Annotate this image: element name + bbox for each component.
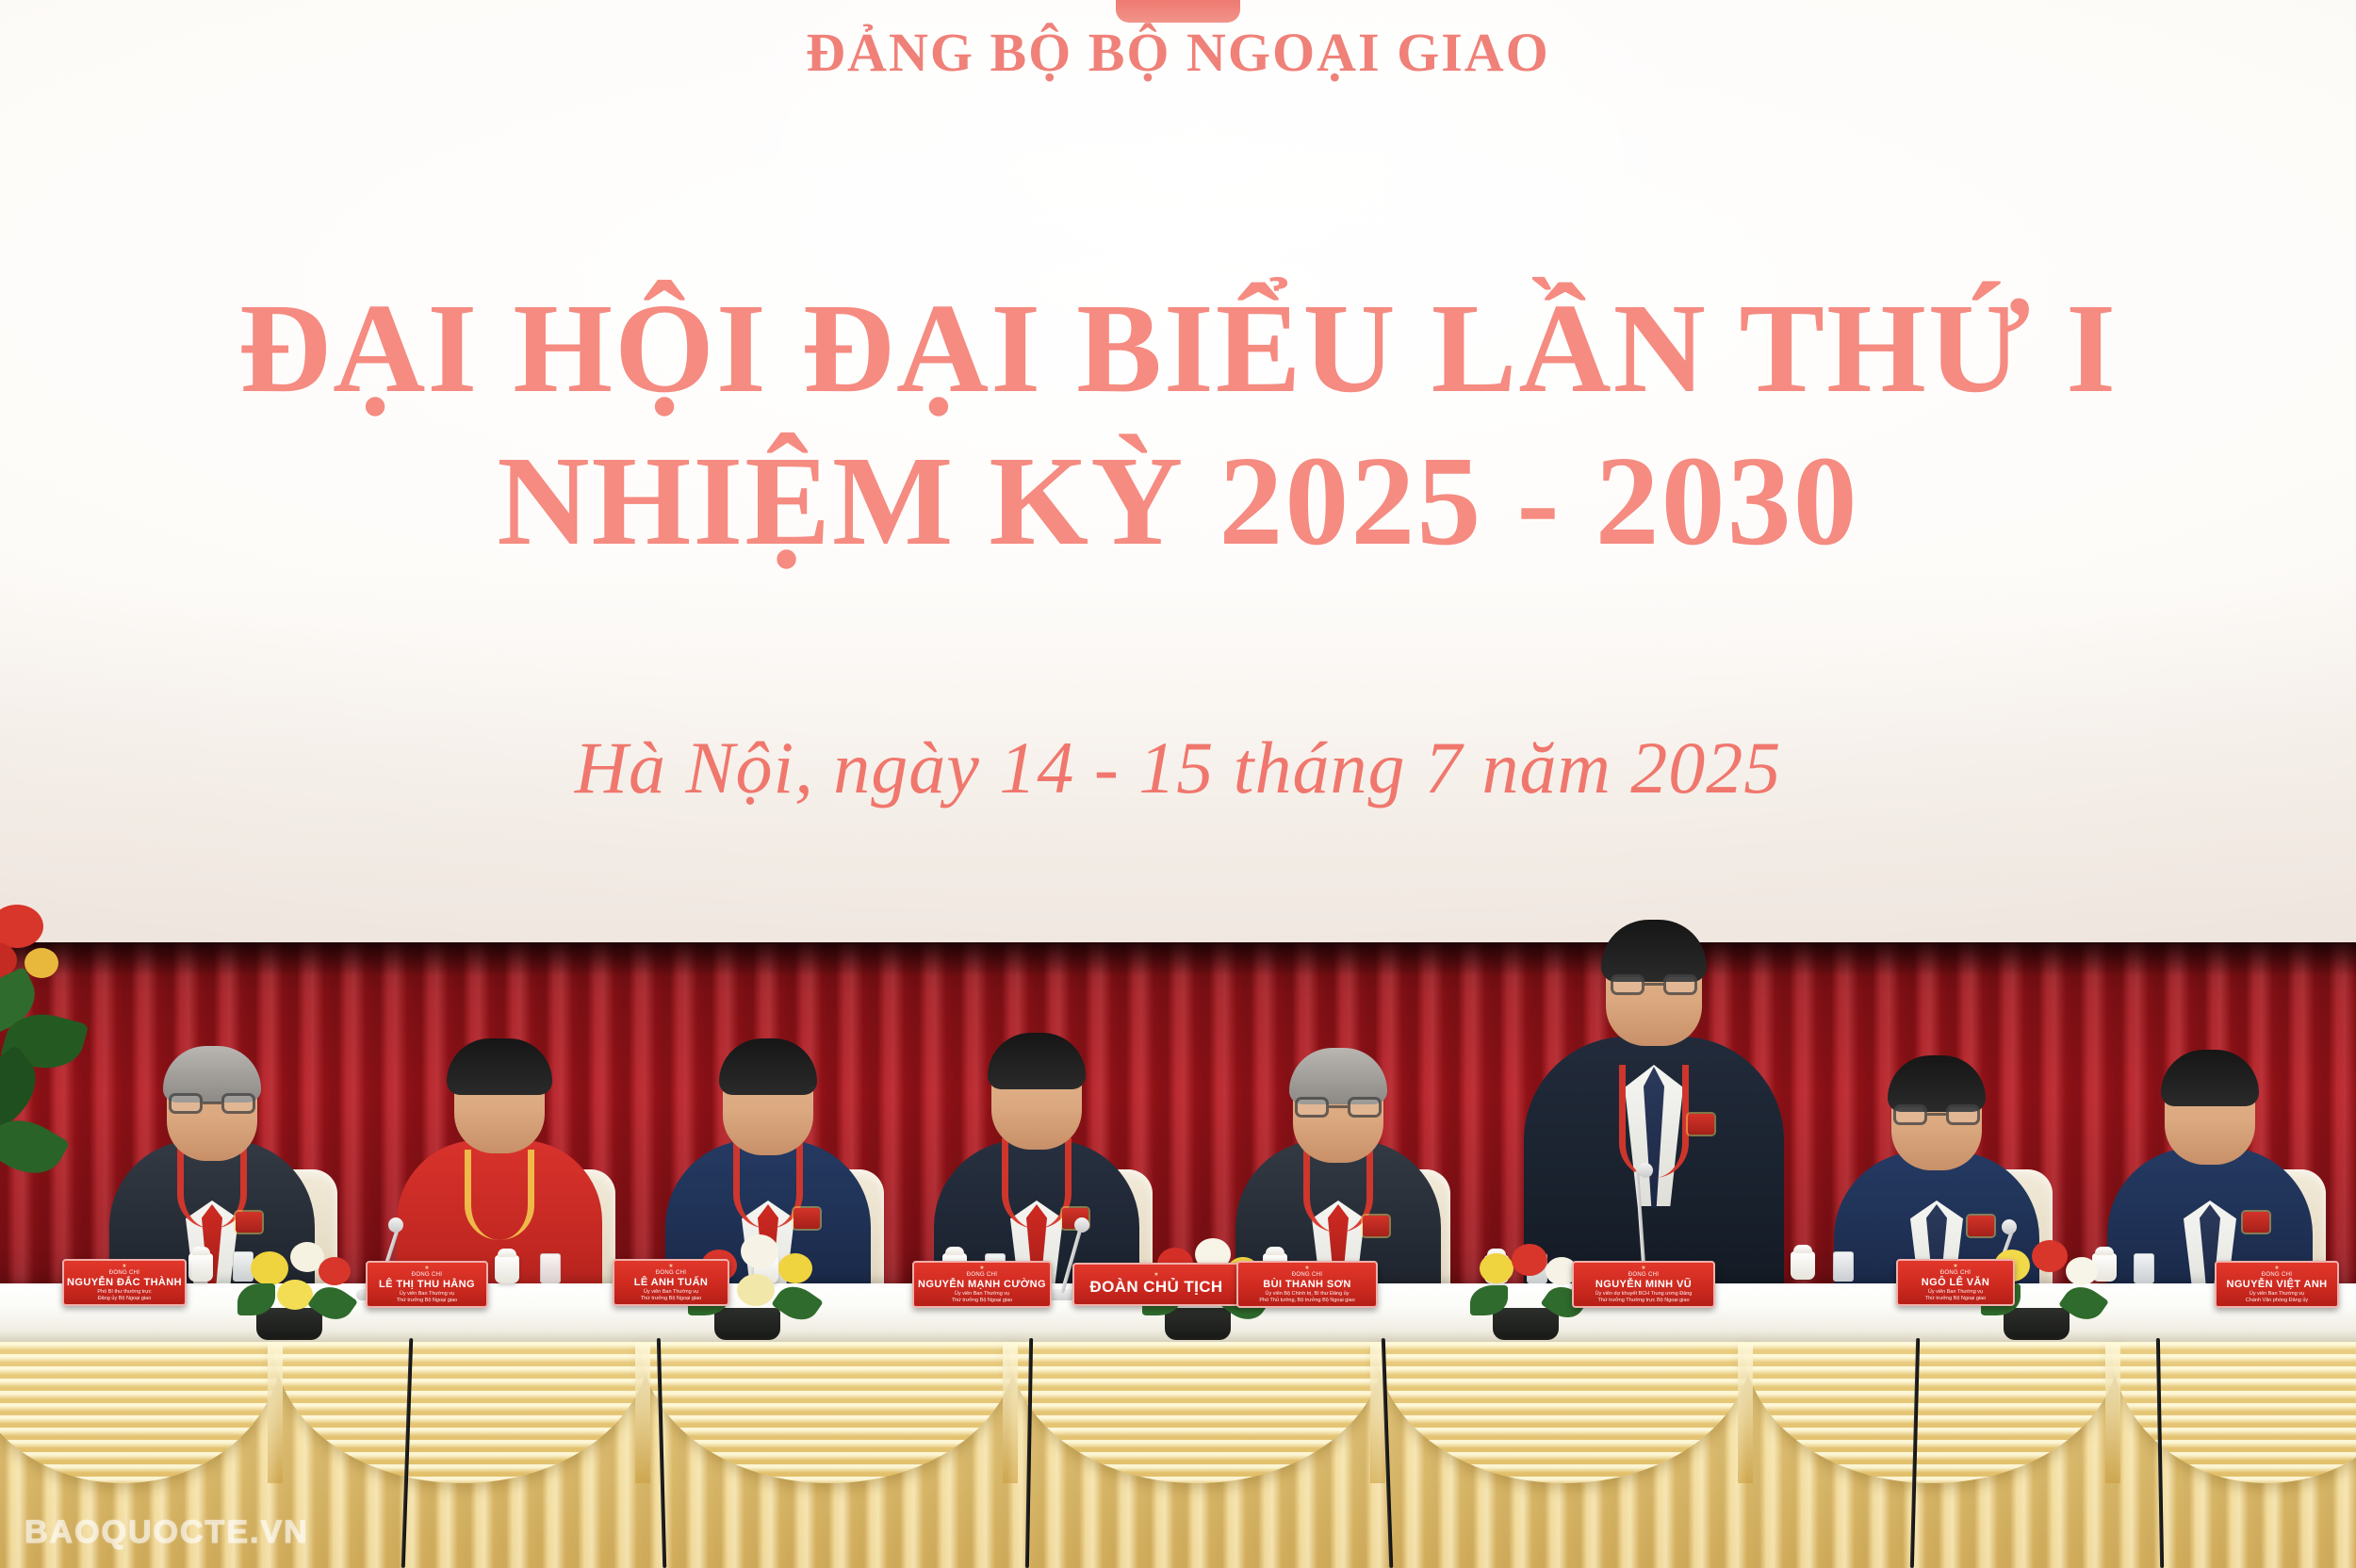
plate-prefix: ĐỒNG CHÍ: [656, 1269, 686, 1277]
hair: [719, 1038, 817, 1095]
lanyard: [465, 1150, 534, 1240]
delegate-badge: [236, 1212, 262, 1233]
plate-title-2: Thứ trưởng Bộ Ngoại giao: [641, 1296, 701, 1302]
microphone-head: [1074, 1217, 1089, 1233]
nameplate-6: ★ ĐỒNG CHÍ NGUYỄN MINH VŨ Ủy viên dự khu…: [1572, 1261, 1715, 1308]
plate-title-1: Phó Bí thư thường trực: [97, 1289, 151, 1296]
microphone-head: [1638, 1163, 1653, 1178]
skirt-swag: [273, 1342, 650, 1483]
tea-cup: [1791, 1251, 1815, 1280]
party-emblem-icon: [1116, 0, 1240, 23]
flower-vase: [256, 1308, 322, 1340]
slide-organization-line: ĐẢNG BỘ BỘ NGOẠI GIAO: [0, 21, 2356, 84]
plate-prefix: ĐỒNG CHÍ: [1292, 1271, 1322, 1279]
plate-title-1: Ủy viên dự khuyết BCH Trung ương Đảng: [1595, 1291, 1693, 1298]
lanyard: [1619, 1065, 1689, 1178]
plate-title-2: Phó Thủ tướng, Bộ trưởng Bộ Ngoại giao: [1259, 1298, 1354, 1304]
flower-vase: [2004, 1308, 2070, 1340]
slide-date-line: Hà Nội, ngày 14 - 15 tháng 7 năm 2025: [0, 726, 2356, 810]
skirt-seam: [635, 1342, 650, 1483]
delegate-badge: [2243, 1212, 2269, 1233]
plate-name: LÊ ANH TUẤN: [634, 1277, 709, 1289]
skirt-seam: [268, 1342, 283, 1483]
plate-prefix: ĐỒNG CHÍ: [1940, 1269, 1971, 1277]
skirt-swag: [1008, 1342, 1385, 1483]
nameplate-3: ★ ĐỒNG CHÍ LÊ ANH TUẤN Ủy viên Ban Thườn…: [613, 1259, 729, 1306]
skirt-swag: [1376, 1342, 1753, 1483]
plate-title-2: Chánh Văn phòng Đảng ủy: [2246, 1298, 2308, 1304]
plate-title-1: Ủy viên Ban Thường vụ: [955, 1291, 1009, 1298]
skirt-seam: [1003, 1342, 1018, 1483]
delegate-badge: [1688, 1114, 1714, 1135]
plate-name: NGUYỄN ĐẮC THÀNH: [67, 1277, 182, 1289]
plate-prefix: ĐỒNG CHÍ: [2262, 1271, 2292, 1279]
water-glass: [1833, 1251, 1854, 1282]
eyeglasses-icon: [1611, 974, 1697, 995]
plate-title-2: Thứ trưởng Thường trực Bộ Ngoại giao: [1597, 1298, 1689, 1304]
lanyard: [1002, 1138, 1072, 1229]
plate-title-1: Ủy viên Ban Thường vụ: [1928, 1289, 1983, 1296]
plate-title-1: Ủy viên Ban Thường vụ: [644, 1289, 698, 1296]
tea-cup: [188, 1253, 213, 1282]
skirt-seam: [2105, 1342, 2120, 1483]
plate-prefix: ĐỒNG CHÍ: [967, 1271, 997, 1279]
presidium-sign-label: ĐOÀN CHỦ TỊCH: [1089, 1278, 1222, 1297]
plate-emblem-icon: ★: [1153, 1272, 1158, 1278]
plate-title-2: Thứ trưởng Bộ Ngoại giao: [397, 1298, 457, 1304]
microphone-head: [2002, 1219, 2017, 1234]
skirt-swag: [0, 1342, 283, 1483]
delegate-badge: [1968, 1216, 1994, 1236]
plate-title-2: Thứ trưởng Bộ Ngoại giao: [1925, 1296, 1986, 1302]
plate-name: NGUYỄN MẠNH CƯỜNG: [918, 1279, 1046, 1291]
tea-cup: [495, 1255, 519, 1283]
nameplate-4: ★ ĐỒNG CHÍ NGUYỄN MẠNH CƯỜNG Ủy viên Ban…: [912, 1261, 1052, 1308]
plate-title-2: Đảng ủy Bộ Ngoại giao: [98, 1296, 152, 1302]
eyeglasses-icon: [1893, 1104, 1980, 1125]
nameplate-2: ★ ĐỒNG CHÍ LÊ THỊ THU HẰNG Ủy viên Ban T…: [366, 1261, 488, 1308]
skirt-seam: [1738, 1342, 1753, 1483]
flower-vase: [714, 1308, 780, 1340]
plate-name: NGUYỄN MINH VŨ: [1595, 1279, 1692, 1291]
plate-title-1: Ủy viên Bộ Chính trị, Bí thư Đảng ủy: [1266, 1291, 1350, 1298]
skirt-swag: [641, 1342, 1018, 1483]
plate-name: NGUYỄN VIỆT ANH: [2226, 1279, 2327, 1291]
plate-name: NGÔ LÊ VĂN: [1922, 1277, 1989, 1289]
water-glass: [540, 1253, 561, 1283]
microphone-head: [388, 1217, 403, 1233]
eyeglasses-icon: [169, 1093, 255, 1114]
hair: [1289, 1048, 1387, 1104]
slide-title-line1: ĐẠI HỘI ĐẠI BIỂU LẦN THỨ I: [238, 278, 2118, 419]
plate-title-1: Ủy viên Ban Thường vụ: [2250, 1291, 2304, 1298]
flower-vase: [1493, 1308, 1559, 1340]
photo-canvas: ĐẢNG BỘ BỘ NGOẠI GIAO ĐẠI HỘI ĐẠI BIỂU L…: [0, 0, 2356, 1568]
delegate-badge: [794, 1208, 820, 1229]
nameplate-5: ★ ĐỒNG CHÍ BÙI THANH SƠN Ủy viên Bộ Chín…: [1236, 1261, 1378, 1308]
plate-name: BÙI THANH SƠN: [1263, 1279, 1350, 1291]
hair: [988, 1033, 1086, 1089]
plate-prefix: ĐỒNG CHÍ: [1628, 1271, 1659, 1279]
nameplate-8: ★ ĐỒNG CHÍ NGUYỄN VIỆT ANH Ủy viên Ban T…: [2215, 1261, 2339, 1308]
nameplate-1: ★ ĐỒNG CHÍ NGUYỄN ĐẮC THÀNH Phó Bí thư t…: [62, 1259, 187, 1306]
skirt-swag: [2111, 1342, 2356, 1483]
plate-name: LÊ THỊ THU HẰNG: [379, 1279, 475, 1291]
plate-title-2: Thứ trưởng Bộ Ngoại giao: [952, 1298, 1012, 1304]
skirt-swag: [1743, 1342, 2120, 1483]
slide-main-title: ĐẠI HỘI ĐẠI BIỂU LẦN THỨ I NHIỆM KỲ 2025…: [0, 283, 2356, 567]
hair: [2161, 1050, 2259, 1106]
plate-prefix: ĐỒNG CHÍ: [412, 1271, 442, 1279]
delegate-badge: [1363, 1216, 1389, 1236]
plate-title-1: Ủy viên Ban Thường vụ: [400, 1291, 454, 1298]
hair: [1888, 1055, 1986, 1112]
source-watermark: BAOQUOCTE.VN: [25, 1514, 309, 1551]
hair-top: [447, 1038, 552, 1095]
flower-vase: [1165, 1308, 1231, 1340]
water-glass: [2134, 1253, 2154, 1283]
presidium-sign: ★ ĐOÀN CHỦ TỊCH: [1072, 1263, 1240, 1306]
plate-prefix: ĐỒNG CHÍ: [109, 1269, 139, 1277]
nameplate-7: ★ ĐỒNG CHÍ NGÔ LÊ VĂN Ủy viên Ban Thường…: [1896, 1259, 2015, 1306]
eyeglasses-icon: [1295, 1097, 1382, 1118]
skirt-swag-row: [0, 1342, 2356, 1483]
slide-title-line2: NHIỆM KỲ 2025 - 2030: [0, 435, 2356, 567]
